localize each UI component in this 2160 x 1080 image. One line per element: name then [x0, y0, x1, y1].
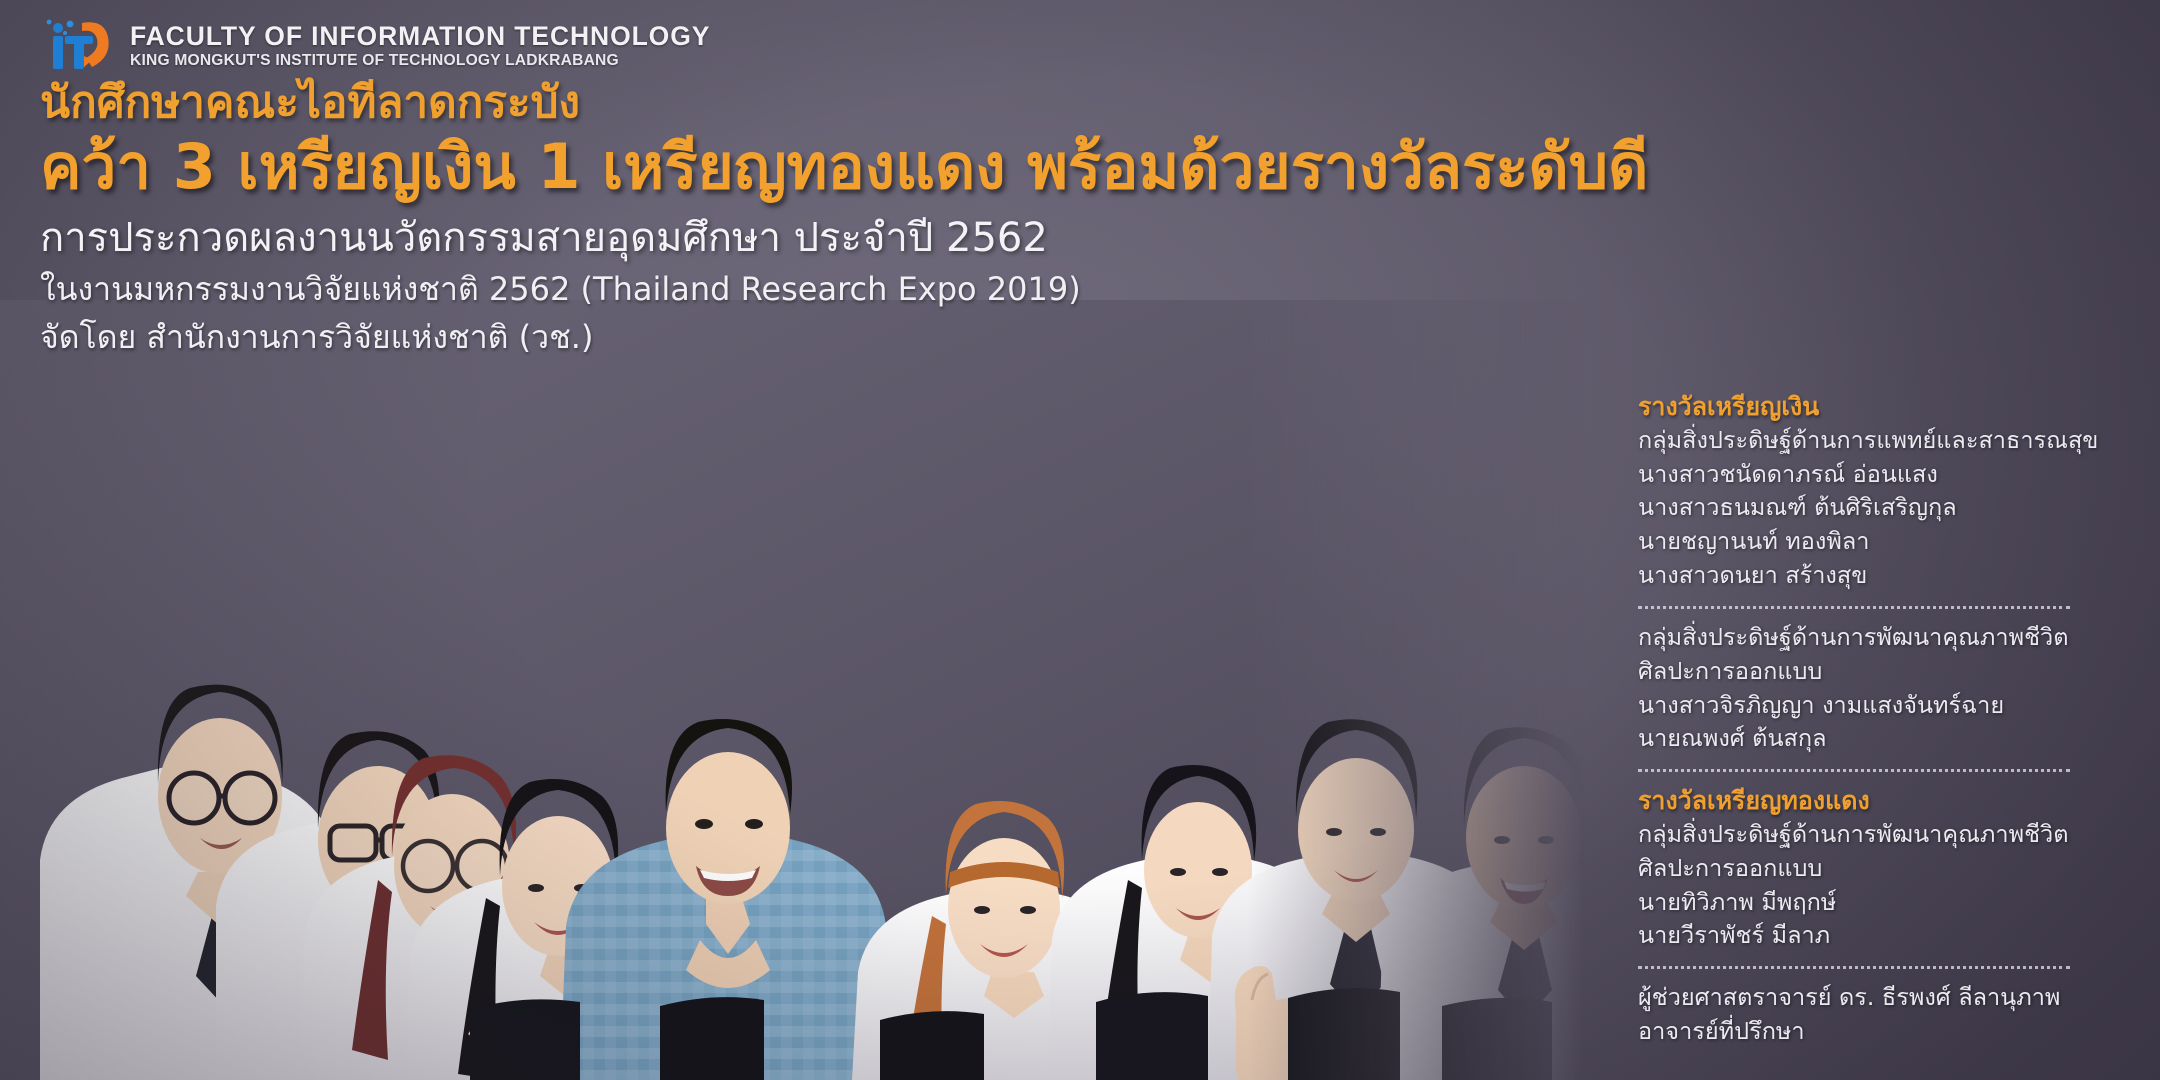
brand-logo: FACULTY OF INFORMATION TECHNOLOGY KING M… — [38, 14, 710, 76]
silver-award-section: รางวัลเหรียญเงิน กลุ่มสิ่งประดิษฐ์ด้านกา… — [1638, 390, 2138, 593]
silver-group1-member: นายชญานนท์ ทองพิลา — [1638, 525, 2138, 559]
award-banner: FACULTY OF INFORMATION TECHNOLOGY KING M… — [0, 0, 2160, 1080]
silver-group2-member: นางสาวจิรภิญญา งามแสงจันทร์ฉาย — [1638, 689, 2138, 723]
bronze-category-line-1: กลุ่มสิ่งประดิษฐ์ด้านการพัฒนาคุณภาพชีวิต — [1638, 818, 2138, 852]
section-divider — [1638, 966, 2070, 969]
section-divider — [1638, 606, 2070, 609]
bronze-member: นายวีราพัชร์ มีลาภ — [1638, 919, 2138, 953]
institute-name: KING MONGKUT'S INSTITUTE OF TECHNOLOGY L… — [130, 53, 710, 69]
silver-group2-section: กลุ่มสิ่งประดิษฐ์ด้านการพัฒนาคุณภาพชีวิต… — [1638, 621, 2138, 756]
group-photo — [0, 300, 1600, 1080]
awards-list: รางวัลเหรียญเงิน กลุ่มสิ่งประดิษฐ์ด้านกา… — [1638, 390, 2138, 1049]
silver-award-title: รางวัลเหรียญเงิน — [1638, 390, 2138, 424]
bronze-category-line-2: ศิลปะการออกแบบ — [1638, 852, 2138, 886]
event-context-line-1: ในงานมหกรรมงานวิจัยแห่งชาติ 2562 (Thaila… — [40, 268, 1648, 310]
bronze-member: นายทิวิภาพ มีพฤกษ์ — [1638, 886, 2138, 920]
silver-group2-category-line-1: กลุ่มสิ่งประดิษฐ์ด้านการพัฒนาคุณภาพชีวิต — [1638, 621, 2138, 655]
headline-main: คว้า 3 เหรียญเงิน 1 เหรียญทองแดง พร้อมด้… — [40, 133, 1648, 201]
silver-group1-member: นางสาวธนมณฑ์ ต้นศิริเสริญกุล — [1638, 491, 2138, 525]
headline-block: นักศึกษาคณะไอทีลาดกระบัง คว้า 3 เหรียญเง… — [40, 80, 1648, 358]
event-title: การประกวดผลงานนวัตกรรมสายอุดมศึกษา ประจำ… — [40, 215, 1648, 262]
silver-group2-member: นายณพงศ์ ต้นสกุล — [1638, 722, 2138, 756]
advisor-name: ผู้ช่วยศาสตราจารย์ ดร. ธีรพงศ์ ลีลานุภาพ — [1638, 981, 2138, 1015]
bronze-award-title: รางวัลเหรียญทองแดง — [1638, 784, 2138, 818]
silver-group1-member: นางสาวชนัดดาภรณ์ อ่อนแสง — [1638, 458, 2138, 492]
advisor-role: อาจารย์ที่ปรึกษา — [1638, 1015, 2138, 1049]
event-organizer-line: จัดโดย สำนักงานการวิจัยแห่งชาติ (วช.) — [40, 316, 1648, 358]
silver-group2-category-line-2: ศิลปะการออกแบบ — [1638, 655, 2138, 689]
section-divider — [1638, 769, 2070, 772]
advisor-section: ผู้ช่วยศาสตราจารย์ ดร. ธีรพงศ์ ลีลานุภาพ… — [1638, 981, 2138, 1049]
silver-group1-category: กลุ่มสิ่งประดิษฐ์ด้านการแพทย์และสาธารณสุ… — [1638, 424, 2138, 458]
faculty-name: FACULTY OF INFORMATION TECHNOLOGY — [130, 23, 710, 50]
headline-kicker: นักศึกษาคณะไอทีลาดกระบัง — [40, 80, 1648, 127]
it-logo-icon — [38, 14, 116, 76]
bronze-award-section: รางวัลเหรียญทองแดง กลุ่มสิ่งประดิษฐ์ด้าน… — [1638, 784, 2138, 953]
silver-group1-member: นางสาวดนยา สร้างสุข — [1638, 559, 2138, 593]
